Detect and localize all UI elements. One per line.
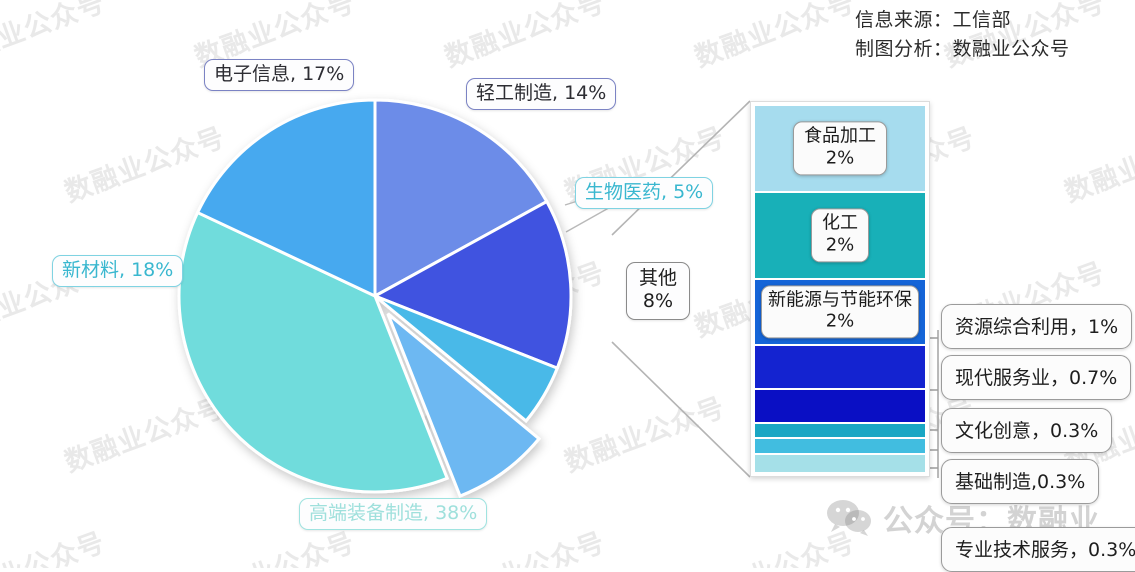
bar-label-new-energy-name: 新能源与节能环保 — [768, 289, 912, 311]
stacked-bar-column: 食品加工 2% 化工 2% 新能源与节能环保 2% — [755, 106, 925, 472]
chart-canvas: 数融业公众号数融业公众号数融业公众号数融业公众号数融业公众号数融业公众号数融业公… — [0, 0, 1135, 568]
bar-label-food-processing: 食品加工 2% — [793, 122, 887, 175]
bar-label-chemical: 化工 2% — [811, 209, 869, 262]
bar-segment-professional-services — [755, 453, 925, 472]
pie-label-others: 其他 8% — [626, 262, 690, 320]
watermark-text: 数融业公众号 — [0, 520, 110, 568]
pie-label-electronic-information: 电子信息, 17% — [204, 59, 354, 91]
bar-segment-basic-manufacturing — [755, 437, 925, 453]
callout-resource-utilization: 资源综合利用，1% — [941, 304, 1132, 349]
bar-segment-new-energy: 新能源与节能环保 2% — [755, 278, 925, 344]
callout-basic-manufacturing: 基础制造,0.3% — [941, 459, 1099, 504]
bar-segment-modern-services — [755, 388, 925, 422]
bar-label-new-energy: 新能源与节能环保 2% — [761, 285, 919, 338]
source-note: 信息来源：工信部 制图分析：数融业公众号 — [855, 6, 1070, 63]
bar-label-chemical-value: 2% — [822, 234, 858, 256]
source-line-1: 信息来源：工信部 — [855, 6, 1070, 35]
bar-segment-resource-utilization — [755, 344, 925, 388]
bar-label-chemical-name: 化工 — [822, 213, 858, 235]
pie-slice-group — [179, 100, 571, 496]
pie-chart — [172, 96, 592, 500]
pie-label-biomedicine: 生物医药, 5% — [575, 177, 713, 209]
pie-label-others-name: 其他 — [639, 267, 677, 290]
watermark-text: 数融业公众号 — [438, 0, 609, 75]
pie-label-others-value: 8% — [639, 290, 677, 313]
bar-segment-cultural-creative — [755, 422, 925, 438]
bar-segment-chemical: 化工 2% — [755, 191, 925, 278]
watermark-text: 数融业公众号 — [1058, 115, 1135, 209]
pie-label-new-materials: 新材料, 18% — [52, 255, 183, 287]
bar-label-food-processing-name: 食品加工 — [804, 126, 876, 148]
pie-label-high-end-equipment: 高端装备制造, 38% — [299, 498, 487, 530]
pie-label-light-manufacturing: 轻工制造, 14% — [466, 78, 616, 110]
bar-segment-food-processing: 食品加工 2% — [755, 106, 925, 191]
callout-cultural-creative: 文化创意，0.3% — [941, 408, 1112, 453]
watermark-text: 数融业公众号 — [688, 0, 859, 75]
bar-label-food-processing-value: 2% — [804, 147, 876, 169]
callout-professional-services: 专业技术服务，0.3% — [941, 527, 1135, 572]
stacked-bar-panel: 食品加工 2% 化工 2% 新能源与节能环保 2% — [750, 101, 930, 477]
wechat-icon — [826, 499, 872, 537]
watermark-text: 数融业公众号 — [0, 0, 110, 75]
bar-label-new-energy-value: 2% — [768, 311, 912, 333]
source-line-2: 制图分析：数融业公众号 — [855, 35, 1070, 64]
callout-modern-services: 现代服务业，0.7% — [941, 355, 1131, 400]
watermark-text: 数融业公众号 — [688, 520, 859, 568]
